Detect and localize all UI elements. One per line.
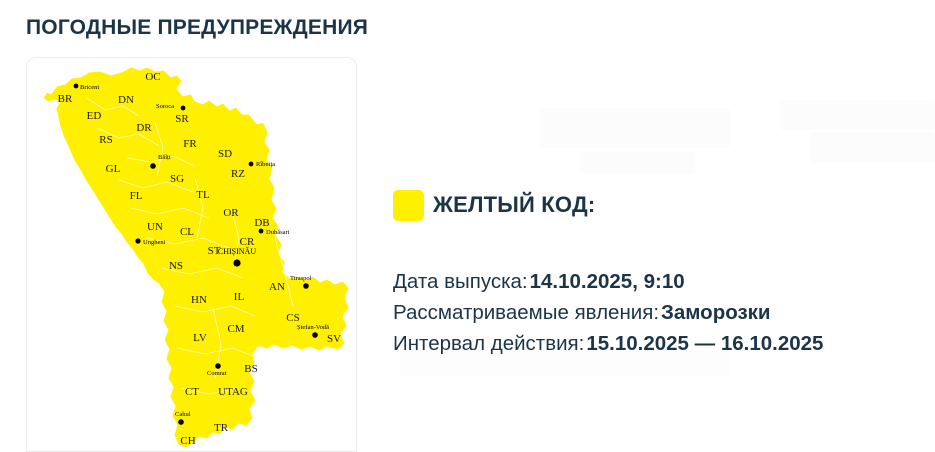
alert-code-label: ЖЕЛТЫЙ КОД: xyxy=(433,192,595,218)
svg-text:RS: RS xyxy=(99,134,112,146)
svg-text:CM: CM xyxy=(227,323,244,335)
svg-text:DB: DB xyxy=(254,217,269,229)
detail-row-validity-interval: Интервал действия:15.10.2025 — 16.10.202… xyxy=(393,328,918,359)
svg-text:CS: CS xyxy=(286,312,299,324)
svg-text:ED: ED xyxy=(87,110,102,122)
weather-map-card: OC BR DN ED SR DR RS FR SD GL RZ SG TL F… xyxy=(26,57,357,452)
svg-text:CT: CT xyxy=(185,386,199,398)
svg-text:IL: IL xyxy=(234,291,245,303)
svg-text:Ungheni: Ungheni xyxy=(143,239,166,246)
svg-text:SR: SR xyxy=(175,113,189,125)
svg-text:Briceni: Briceni xyxy=(80,84,99,91)
detail-label-phenomena: Рассматриваемые явления: xyxy=(393,301,659,324)
svg-text:DR: DR xyxy=(136,122,152,134)
svg-text:Soroca: Soroca xyxy=(156,103,174,110)
svg-text:SG: SG xyxy=(170,173,184,185)
svg-text:NS: NS xyxy=(169,260,183,272)
svg-text:Bălți: Bălți xyxy=(158,154,171,161)
detail-label-issue-date: Дата выпуска: xyxy=(393,270,528,293)
alert-detail-list: Дата выпуска:14.10.2025, 9:10 Рассматрив… xyxy=(393,266,918,359)
detail-value-issue-date: 14.10.2025, 9:10 xyxy=(530,270,685,293)
svg-text:Cahul: Cahul xyxy=(175,411,191,418)
detail-row-phenomena: Рассматриваемые явления:Заморозки xyxy=(393,297,918,328)
svg-text:FR: FR xyxy=(183,138,197,150)
svg-text:DN: DN xyxy=(118,94,134,106)
svg-text:CL: CL xyxy=(180,226,194,238)
detail-value-validity-interval: 15.10.2025 — 16.10.2025 xyxy=(586,332,823,355)
yellow-code-swatch-icon xyxy=(393,190,424,221)
svg-text:SV: SV xyxy=(327,333,341,345)
svg-text:AN: AN xyxy=(269,281,285,293)
svg-text:FL: FL xyxy=(130,190,143,202)
svg-text:BS: BS xyxy=(244,363,257,375)
detail-value-phenomena: Заморозки xyxy=(661,301,771,324)
svg-text:UTAG: UTAG xyxy=(218,386,248,398)
svg-text:Dubăsari: Dubăsari xyxy=(266,229,290,236)
svg-text:Ștefan-Vodă: Ștefan-Vodă xyxy=(297,324,329,331)
svg-text:TL: TL xyxy=(196,189,210,201)
svg-text:TR: TR xyxy=(214,422,229,434)
svg-text:LV: LV xyxy=(193,332,207,344)
svg-text:Comrat: Comrat xyxy=(207,370,227,377)
svg-text:OC: OC xyxy=(145,71,160,83)
svg-text:SD: SD xyxy=(218,148,232,160)
detail-label-validity-interval: Интервал действия: xyxy=(393,332,584,355)
svg-text:BR: BR xyxy=(58,93,73,105)
svg-text:CHIȘINĂU: CHIȘINĂU xyxy=(218,247,256,256)
detail-row-issue-date: Дата выпуска:14.10.2025, 9:10 xyxy=(393,266,918,297)
svg-text:RZ: RZ xyxy=(231,168,245,180)
svg-text:CH: CH xyxy=(180,435,195,447)
svg-text:Rîbnița: Rîbnița xyxy=(256,161,275,168)
svg-text:GL: GL xyxy=(106,163,121,175)
svg-text:UN: UN xyxy=(147,221,163,233)
svg-text:HN: HN xyxy=(191,294,207,306)
svg-text:OR: OR xyxy=(223,207,239,219)
alert-info-panel: ЖЕЛТЫЙ КОД: Дата выпуска:14.10.2025, 9:1… xyxy=(393,185,918,359)
alert-code-header: ЖЕЛТЫЙ КОД: xyxy=(393,185,918,225)
moldova-map: OC BR DN ED SR DR RS FR SD GL RZ SG TL F… xyxy=(27,58,357,452)
svg-text:Tiraspol: Tiraspol xyxy=(290,275,312,282)
page-title: ПОГОДНЫЕ ПРЕДУПРЕЖДЕНИЯ xyxy=(26,16,368,40)
